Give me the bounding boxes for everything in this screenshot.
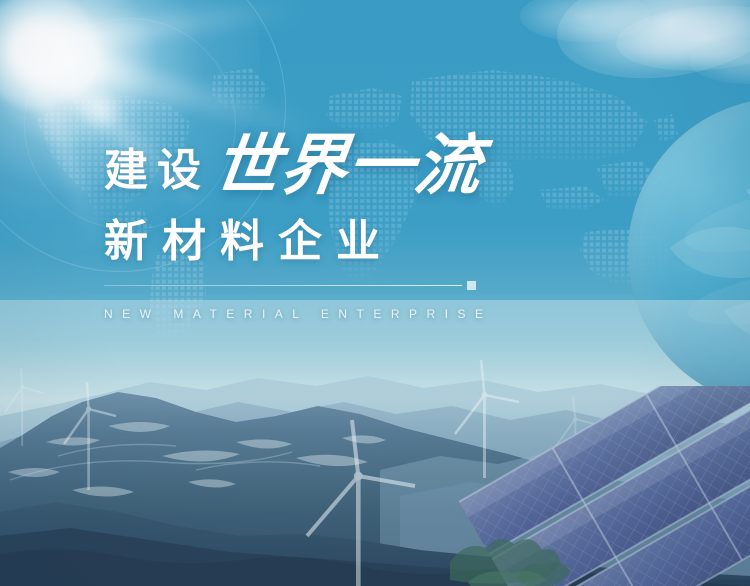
subtitle: NEW MATERIAL ENTERPRISE (104, 307, 524, 321)
solar-panel-array (450, 386, 750, 586)
hero-banner: 建设 世界一流 新材料企业 NEW MATERIAL ENTERPRISE (0, 0, 750, 586)
divider-endcap (467, 281, 476, 290)
headline-prefix: 建设 (104, 149, 210, 193)
wind-turbine-icon (2, 368, 46, 448)
divider-line (104, 285, 462, 286)
wind-turbine-icon (60, 382, 120, 492)
divider (104, 281, 476, 290)
headline-emphasis: 世界一流 (210, 132, 486, 198)
headline-block: 建设 世界一流 新材料企业 NEW MATERIAL ENTERPRISE (104, 132, 524, 321)
headline-line-1: 建设 世界一流 (104, 132, 524, 206)
wind-turbine-icon (303, 418, 418, 586)
headline-line-2: 新材料企业 (104, 218, 524, 266)
